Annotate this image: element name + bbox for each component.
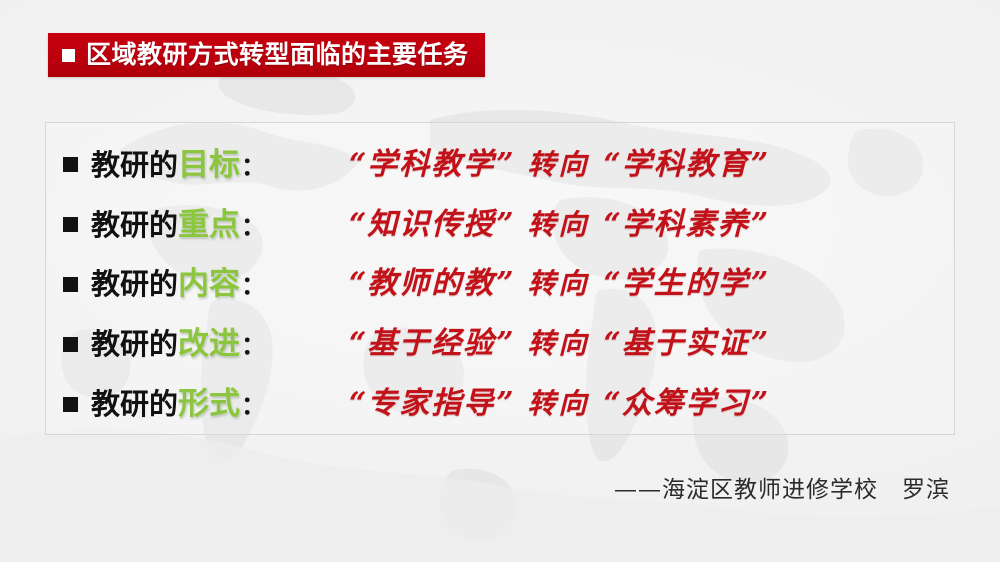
- phrase-from: 基于经验: [367, 329, 495, 359]
- quote-close: ”: [751, 389, 768, 419]
- phrase-to: 学生的学: [622, 269, 750, 299]
- row-label-prefix: 教研的: [91, 152, 178, 181]
- row-label-colon: ：: [241, 394, 266, 419]
- phrase-from: 教师的教: [367, 269, 495, 299]
- row-label-prefix: 教研的: [91, 331, 178, 360]
- square-bullet-icon: [63, 397, 78, 412]
- slide-canvas: 区域教研方式转型面临的主要任务 教研的 目标 ： “学科教学” 转向 “学科教育…: [0, 0, 1000, 562]
- quote-close: ”: [751, 269, 768, 299]
- phrase-transition: 转向: [528, 330, 590, 358]
- phrase-from: 学科教学: [367, 150, 495, 180]
- row-label: 教研的 重点 ：: [91, 209, 349, 241]
- row-label-prefix: 教研的: [91, 391, 178, 420]
- square-bullet-icon: [63, 157, 78, 172]
- attribution-text: ——海淀区教师进修学校 罗滨: [614, 470, 950, 504]
- row-label-colon: ：: [241, 155, 266, 180]
- quote-close: ”: [496, 329, 513, 359]
- list-item: 教研的 重点 ： “知识传授” 转向 “学科素养”: [46, 196, 954, 253]
- row-label: 教研的 形式 ：: [91, 388, 349, 420]
- phrase-to: 学科教育: [622, 150, 750, 180]
- phrase-to: 学科素养: [622, 210, 750, 240]
- quote-open: “: [349, 210, 366, 240]
- square-bullet-icon: [63, 277, 78, 292]
- row-label-colon: ：: [241, 215, 266, 240]
- row-phrase: “学科教学” 转向 “学科教育”: [349, 150, 768, 180]
- quote-open: “: [349, 269, 366, 299]
- quote-open: “: [349, 389, 366, 419]
- page-title: 区域教研方式转型面临的主要任务: [86, 43, 469, 68]
- row-phrase: “知识传授” 转向 “学科素养”: [349, 210, 768, 240]
- quote-open: “: [604, 150, 621, 180]
- phrase-to: 众筹学习: [622, 389, 750, 419]
- list-item: 教研的 形式 ： “专家指导” 转向 “众筹学习”: [46, 376, 954, 433]
- phrase-from: 专家指导: [367, 389, 495, 419]
- quote-open: “: [604, 269, 621, 299]
- quote-close: ”: [751, 329, 768, 359]
- square-bullet-icon: [62, 49, 75, 62]
- row-label-key: 目标: [178, 149, 240, 180]
- phrase-transition: 转向: [528, 390, 590, 418]
- slide-title-banner: 区域教研方式转型面临的主要任务: [48, 33, 485, 77]
- phrase-transition: 转向: [528, 151, 590, 179]
- quote-close: ”: [751, 210, 768, 240]
- quote-open: “: [349, 150, 366, 180]
- quote-close: ”: [496, 150, 513, 180]
- row-phrase: “专家指导” 转向 “众筹学习”: [349, 389, 768, 419]
- phrase-transition: 转向: [528, 270, 590, 298]
- quote-close: ”: [496, 389, 513, 419]
- row-label-colon: ：: [241, 334, 266, 359]
- row-label-key: 内容: [178, 268, 240, 299]
- list-item: 教研的 内容 ： “教师的教” 转向 “学生的学”: [46, 256, 954, 313]
- quote-close: ”: [496, 269, 513, 299]
- quote-open: “: [604, 389, 621, 419]
- row-label: 教研的 改进 ：: [91, 328, 349, 360]
- phrase-from: 知识传授: [367, 210, 495, 240]
- row-label-prefix: 教研的: [91, 212, 178, 241]
- quote-open: “: [604, 210, 621, 240]
- row-label-colon: ：: [241, 274, 266, 299]
- list-item: 教研的 改进 ： “基于经验” 转向 “基于实证”: [46, 316, 954, 373]
- row-label-key: 改进: [178, 328, 240, 359]
- row-label: 教研的 目标 ：: [91, 149, 349, 181]
- row-label: 教研的 内容 ：: [91, 268, 349, 300]
- row-phrase: “基于经验” 转向 “基于实证”: [349, 329, 768, 359]
- square-bullet-icon: [63, 337, 78, 352]
- square-bullet-icon: [63, 217, 78, 232]
- content-panel: 教研的 目标 ： “学科教学” 转向 “学科教育” 教研的 重点 ： “知识传授…: [45, 122, 955, 435]
- row-label-prefix: 教研的: [91, 271, 178, 300]
- row-label-key: 形式: [178, 388, 240, 419]
- row-label-key: 重点: [178, 209, 240, 240]
- phrase-to: 基于实证: [622, 329, 750, 359]
- quote-open: “: [604, 329, 621, 359]
- row-phrase: “教师的教” 转向 “学生的学”: [349, 269, 768, 299]
- quote-close: ”: [496, 210, 513, 240]
- quote-close: ”: [751, 150, 768, 180]
- list-item: 教研的 目标 ： “学科教学” 转向 “学科教育”: [46, 136, 954, 193]
- quote-open: “: [349, 329, 366, 359]
- phrase-transition: 转向: [528, 211, 590, 239]
